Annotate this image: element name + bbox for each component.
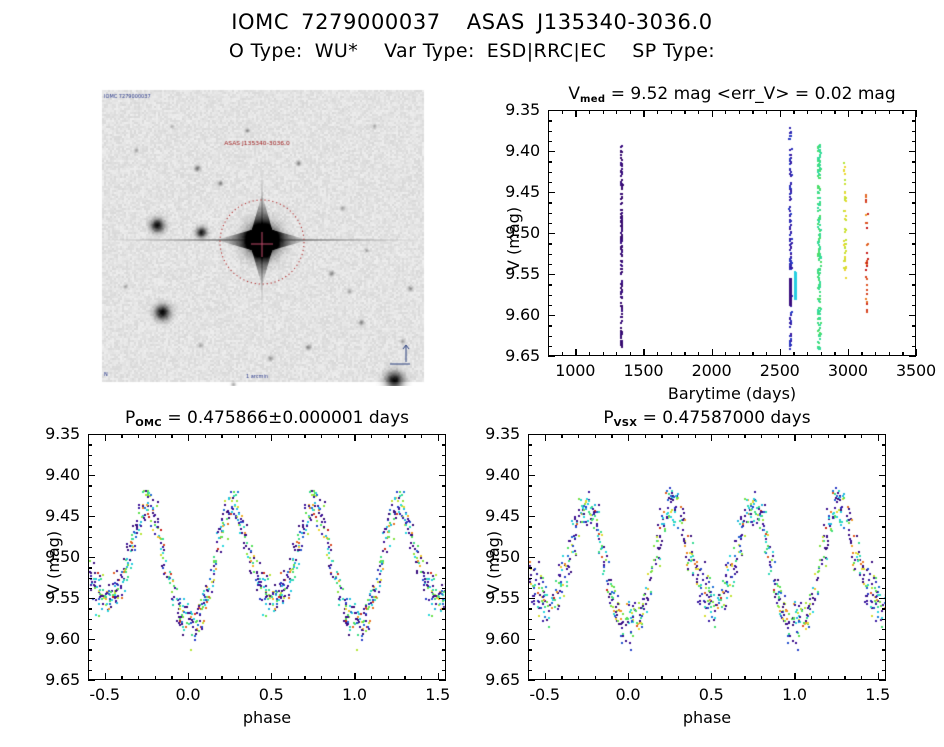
axis-tick: [766, 352, 767, 356]
axis-tick: [912, 192, 916, 193]
axis-tick: [121, 676, 122, 680]
axis-tick: [861, 676, 862, 680]
vsx-plot-area: [528, 434, 886, 680]
var-type-label: Var Type:: [384, 40, 475, 62]
axis-tick-label: 2500: [760, 363, 800, 379]
axis-tick: [255, 434, 256, 438]
axis-tick: [188, 434, 189, 438]
axis-tick: [912, 151, 916, 152]
axis-tick: [421, 676, 422, 680]
axis-tick: [698, 352, 699, 356]
axis-tick: [442, 496, 446, 497]
axis-tick: [912, 264, 916, 265]
axis-tick-label: 9.35: [485, 426, 520, 442]
axis-tick-label: 9.50: [505, 225, 540, 241]
axis-tick-label: 9.45: [45, 508, 80, 524]
axis-tick: [88, 619, 92, 620]
axis-tick: [912, 325, 916, 326]
axis-tick: [545, 676, 546, 680]
pvsx-symbol: P: [603, 408, 613, 428]
axis-tick: [442, 557, 446, 558]
axis-tick: [442, 598, 446, 599]
axis-tick: [828, 676, 829, 680]
axis-tick: [354, 676, 355, 680]
var-type-value: ESD|RRC|EC: [487, 40, 607, 62]
o-type-label: O Type:: [229, 40, 303, 62]
axis-tick: [545, 434, 546, 438]
axis-tick: [171, 676, 172, 680]
axis-tick: [88, 465, 92, 466]
vsx-x-axis-label: phase: [683, 710, 731, 726]
axis-tick: [528, 588, 532, 589]
axis-tick: [711, 434, 712, 438]
axis-tick: [678, 676, 679, 680]
axis-tick: [616, 110, 617, 114]
axis-tick: [712, 110, 713, 114]
axis-tick: [404, 676, 405, 680]
axis-tick: [442, 619, 446, 620]
vmed-value-text: = 9.52 mag <err_V> = 0.02 mag: [605, 84, 895, 104]
axis-tick-label: 0.0: [175, 687, 200, 703]
axis-tick-label: 1.0: [342, 687, 367, 703]
vmed-subscript: med: [580, 94, 605, 105]
axis-tick: [875, 352, 876, 356]
axis-tick: [882, 475, 886, 476]
axis-tick: [88, 537, 92, 538]
iomc-id: 7279000037: [301, 10, 441, 34]
axis-tick: [778, 676, 779, 680]
axis-tick: [548, 120, 552, 121]
axis-tick: [528, 608, 532, 609]
axis-tick: [912, 274, 916, 275]
axis-tick: [138, 676, 139, 680]
axis-tick: [442, 588, 446, 589]
axis-tick: [882, 639, 886, 640]
axis-tick: [882, 680, 886, 681]
axis-tick: [657, 110, 658, 114]
axis-tick: [548, 161, 552, 162]
axis-tick: [404, 434, 405, 438]
survey-label: ASAS: [467, 10, 525, 34]
axis-tick: [882, 537, 886, 538]
axis-tick: [589, 110, 590, 114]
axis-tick: [88, 588, 92, 589]
axis-tick: [561, 676, 562, 680]
axis-tick: [744, 434, 745, 438]
iomc-label: IOMC: [231, 10, 289, 34]
axis-tick: [739, 352, 740, 356]
axis-tick: [88, 506, 92, 507]
axis-tick: [88, 547, 92, 548]
axis-tick: [657, 352, 658, 356]
axis-tick: [121, 434, 122, 438]
axis-tick: [684, 110, 685, 114]
axis-tick: [528, 578, 532, 579]
axis-tick: [912, 254, 916, 255]
axis-tick: [882, 588, 886, 589]
axis-tick: [88, 485, 92, 486]
timeseries-plot-area: [548, 110, 916, 356]
axis-tick: [548, 325, 552, 326]
axis-tick: [882, 629, 886, 630]
axis-tick: [548, 264, 552, 265]
axis-tick: [442, 506, 446, 507]
axis-tick: [88, 455, 92, 456]
header: IOMC7279000037ASASJ135340-3036.0 O Type:…: [0, 8, 944, 64]
axis-tick: [548, 243, 552, 244]
axis-tick: [902, 110, 903, 114]
axis-tick: [388, 434, 389, 438]
axis-tick: [528, 444, 532, 445]
axis-tick: [575, 110, 576, 114]
axis-tick: [912, 284, 916, 285]
axis-tick: [882, 516, 886, 517]
axis-tick-label: 9.55: [505, 266, 540, 282]
axis-tick: [88, 567, 92, 568]
axis-tick: [643, 110, 644, 114]
axis-tick: [882, 506, 886, 507]
axis-tick: [271, 434, 272, 438]
omc-phase-panel: POMC = 0.475866±0.000001 days V (mag) ph…: [20, 408, 460, 738]
axis-tick: [528, 465, 532, 466]
axis-tick: [793, 110, 794, 114]
axis-tick: [88, 557, 92, 558]
axis-tick: [442, 680, 446, 681]
axis-tick: [684, 352, 685, 356]
axis-tick: [725, 352, 726, 356]
axis-tick: [371, 434, 372, 438]
axis-tick: [548, 336, 552, 337]
axis-tick: [88, 516, 92, 517]
axis-tick: [761, 434, 762, 438]
axis-tick: [548, 274, 552, 275]
axis-tick: [562, 352, 563, 356]
timeseries-scatter-canvas: [549, 111, 916, 356]
axis-tick: [528, 670, 532, 671]
axis-tick-label: 9.60: [485, 631, 520, 647]
axis-tick: [548, 223, 552, 224]
axis-tick: [603, 352, 604, 356]
axis-tick-label: 1000: [555, 363, 595, 379]
axis-tick: [442, 660, 446, 661]
page-title: IOMC7279000037ASASJ135340-3036.0: [0, 8, 944, 36]
axis-tick-label: 1.5: [865, 687, 890, 703]
axis-tick: [442, 465, 446, 466]
axis-tick: [528, 496, 532, 497]
omc-plot-area: [88, 434, 446, 680]
axis-tick: [442, 670, 446, 671]
axis-tick-label: 9.55: [45, 590, 80, 606]
axis-tick: [171, 434, 172, 438]
axis-tick: [528, 629, 532, 630]
timeseries-x-axis-label: Barytime (days): [668, 386, 796, 402]
axis-tick: [744, 676, 745, 680]
axis-tick: [882, 465, 886, 466]
axis-tick-label: 1500: [623, 363, 663, 379]
axis-tick: [88, 649, 92, 650]
axis-tick: [271, 676, 272, 680]
axis-tick: [528, 598, 532, 599]
axis-tick-label: 9.40: [485, 467, 520, 483]
axis-tick: [354, 434, 355, 438]
axis-tick: [698, 110, 699, 114]
axis-tick-label: 0.5: [259, 687, 284, 703]
axis-tick: [528, 680, 532, 681]
axis-tick: [834, 352, 835, 356]
axis-tick: [528, 526, 532, 527]
axis-tick: [645, 676, 646, 680]
axis-tick: [88, 475, 92, 476]
finder-chart-panel: [98, 86, 428, 386]
axis-tick: [794, 676, 795, 680]
axis-tick: [611, 676, 612, 680]
pomc-subscript: OMC: [135, 418, 162, 429]
axis-tick: [528, 649, 532, 650]
axis-tick: [528, 537, 532, 538]
axis-tick: [138, 434, 139, 438]
axis-tick: [221, 434, 222, 438]
axis-tick: [548, 315, 552, 316]
axis-tick-label: 9.40: [505, 143, 540, 159]
axis-tick: [861, 434, 862, 438]
axis-tick: [882, 670, 886, 671]
axis-tick: [88, 496, 92, 497]
axis-tick: [238, 434, 239, 438]
axis-tick: [661, 434, 662, 438]
axis-tick: [528, 485, 532, 486]
axis-tick: [548, 192, 552, 193]
axis-tick: [88, 629, 92, 630]
axis-tick: [321, 434, 322, 438]
axis-tick-label: 9.50: [45, 549, 80, 565]
axis-tick: [603, 110, 604, 114]
axis-tick: [671, 352, 672, 356]
pvsx-value-text: = 0.47587000 days: [637, 408, 810, 428]
omc-x-axis-label: phase: [243, 710, 291, 726]
vmed-symbol: V: [568, 84, 580, 104]
axis-tick: [88, 444, 92, 445]
axis-tick: [902, 352, 903, 356]
axis-tick: [548, 202, 552, 203]
pvsx-subscript: VSX: [614, 418, 638, 429]
axis-tick: [589, 352, 590, 356]
axis-tick: [861, 110, 862, 114]
sky-finder-image: [98, 86, 428, 386]
axis-tick: [288, 676, 289, 680]
axis-tick: [844, 434, 845, 438]
axis-tick: [912, 161, 916, 162]
axis-tick: [548, 233, 552, 234]
axis-tick: [338, 434, 339, 438]
axis-tick-label: 9.55: [485, 590, 520, 606]
axis-tick: [912, 243, 916, 244]
axis-tick: [88, 670, 92, 671]
axis-tick: [728, 676, 729, 680]
axis-tick: [678, 434, 679, 438]
axis-tick: [882, 660, 886, 661]
axis-tick: [88, 660, 92, 661]
timeseries-title: Vmed = 9.52 mag <err_V> = 0.02 mag: [490, 84, 944, 107]
axis-tick: [882, 567, 886, 568]
axis-tick: [728, 434, 729, 438]
axis-tick: [807, 352, 808, 356]
axis-tick: [828, 434, 829, 438]
axis-tick: [912, 233, 916, 234]
axis-tick: [304, 434, 305, 438]
axis-tick: [780, 352, 781, 356]
axis-tick: [442, 475, 446, 476]
axis-tick: [442, 485, 446, 486]
axis-tick: [388, 676, 389, 680]
axis-tick: [575, 352, 576, 356]
axis-tick-label: 9.45: [505, 184, 540, 200]
axis-tick: [912, 315, 916, 316]
axis-tick: [578, 434, 579, 438]
axis-tick: [548, 346, 552, 347]
axis-tick: [912, 223, 916, 224]
classification-line: O Type:WU*Var Type:ESD|RRC|ECSP Type:: [0, 38, 944, 64]
axis-tick: [528, 639, 532, 640]
axis-tick: [861, 352, 862, 356]
axis-tick: [548, 131, 552, 132]
finder-canvas: [98, 86, 428, 386]
axis-tick: [766, 110, 767, 114]
axis-tick-label: 2000: [692, 363, 732, 379]
axis-tick: [528, 557, 532, 558]
axis-tick: [882, 598, 886, 599]
axis-tick-label: 9.40: [45, 467, 80, 483]
axis-tick: [661, 676, 662, 680]
axis-tick: [155, 676, 156, 680]
axis-tick-label: 9.50: [485, 549, 520, 565]
axis-tick: [578, 676, 579, 680]
axis-tick: [882, 578, 886, 579]
axis-tick: [442, 526, 446, 527]
axis-tick-label: -0.5: [89, 687, 119, 703]
axis-tick: [912, 110, 916, 111]
axis-tick: [778, 434, 779, 438]
axis-tick: [811, 676, 812, 680]
axis-tick: [528, 455, 532, 456]
axis-tick: [155, 434, 156, 438]
axis-tick: [882, 496, 886, 497]
axis-tick: [616, 352, 617, 356]
survey-id: J135340-3036.0: [537, 10, 713, 34]
axis-tick: [912, 213, 916, 214]
axis-tick: [882, 455, 886, 456]
axis-tick: [105, 676, 106, 680]
axis-tick-label: 0.0: [615, 687, 640, 703]
axis-tick: [442, 649, 446, 650]
axis-tick-label: 3000: [828, 363, 868, 379]
axis-tick-label: 1.0: [782, 687, 807, 703]
axis-tick: [916, 110, 917, 114]
axis-tick: [628, 434, 629, 438]
axis-tick: [882, 608, 886, 609]
axis-tick: [528, 434, 532, 435]
axis-tick: [848, 352, 849, 356]
axis-tick: [528, 506, 532, 507]
omc-period-title: POMC = 0.475866±0.000001 days: [20, 408, 514, 431]
axis-tick: [821, 352, 822, 356]
axis-tick: [548, 172, 552, 173]
axis-tick: [442, 629, 446, 630]
axis-tick: [882, 619, 886, 620]
axis-tick: [442, 578, 446, 579]
axis-tick: [912, 295, 916, 296]
pomc-value-text: = 0.475866±0.000001 days: [162, 408, 409, 428]
axis-tick: [645, 434, 646, 438]
pomc-symbol: P: [125, 408, 135, 428]
axis-tick-label: 9.35: [505, 102, 540, 118]
axis-tick: [548, 254, 552, 255]
axis-tick: [844, 676, 845, 680]
axis-tick: [105, 434, 106, 438]
axis-tick: [725, 110, 726, 114]
axis-tick: [548, 295, 552, 296]
axis-tick: [889, 352, 890, 356]
axis-tick: [807, 110, 808, 114]
axis-tick: [752, 110, 753, 114]
axis-tick: [88, 639, 92, 640]
axis-tick: [882, 547, 886, 548]
axis-tick: [321, 676, 322, 680]
axis-tick: [528, 475, 532, 476]
axis-tick: [712, 352, 713, 356]
o-type-value: WU*: [315, 40, 358, 62]
axis-tick: [548, 213, 552, 214]
axis-tick: [288, 434, 289, 438]
axis-tick: [188, 676, 189, 680]
axis-tick: [442, 444, 446, 445]
axis-tick: [912, 172, 916, 173]
axis-tick: [528, 619, 532, 620]
axis-tick: [561, 434, 562, 438]
axis-tick: [834, 110, 835, 114]
axis-tick: [761, 676, 762, 680]
vsx-scatter-canvas: [529, 435, 886, 680]
axis-tick-label: 1.5: [425, 687, 450, 703]
axis-tick: [780, 110, 781, 114]
axis-tick: [711, 676, 712, 680]
axis-tick: [882, 526, 886, 527]
axis-tick: [882, 434, 886, 435]
axis-tick: [912, 202, 916, 203]
axis-tick: [882, 557, 886, 558]
axis-tick: [528, 547, 532, 548]
vsx-phase-panel: PVSX = 0.47587000 days V (mag) phase -0.…: [460, 408, 900, 738]
axis-tick: [255, 676, 256, 680]
axis-tick: [528, 516, 532, 517]
axis-tick: [548, 141, 552, 142]
axis-tick: [205, 676, 206, 680]
axis-tick: [304, 676, 305, 680]
axis-tick: [912, 182, 916, 183]
axis-tick: [912, 346, 916, 347]
axis-tick: [630, 352, 631, 356]
axis-tick-label: 9.60: [45, 631, 80, 647]
axis-tick: [752, 352, 753, 356]
axis-tick: [848, 110, 849, 114]
axis-tick: [338, 676, 339, 680]
axis-tick: [88, 608, 92, 609]
axis-tick-label: -0.5: [529, 687, 559, 703]
axis-tick: [442, 434, 446, 435]
axis-tick: [88, 526, 92, 527]
axis-tick: [371, 676, 372, 680]
axis-tick: [739, 110, 740, 114]
axis-tick: [695, 676, 696, 680]
